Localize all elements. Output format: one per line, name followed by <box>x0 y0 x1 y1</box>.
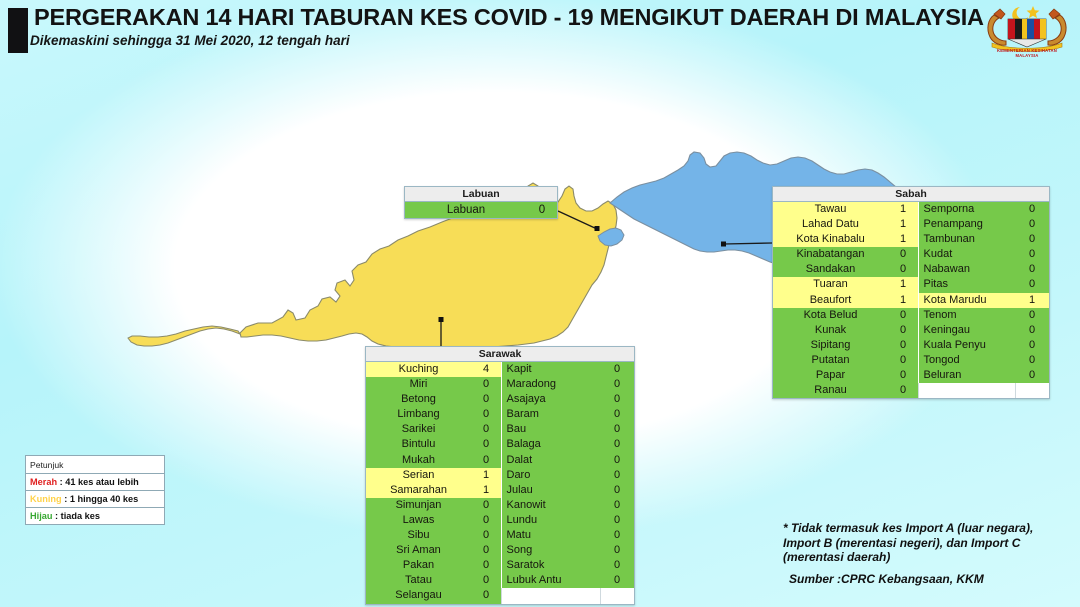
district-name: Asajaya <box>502 392 601 407</box>
footnote-line-2: Import B (merentasi negeri), dan Import … <box>783 536 1073 551</box>
sarawak-right-column: Kapit0Maradong0Asajaya0Baram0Bau0Balaga0… <box>501 362 634 604</box>
district-case-count: 0 <box>471 573 501 588</box>
table-row: Kanowit0 <box>502 498 635 513</box>
district-case-count: 0 <box>1015 338 1049 353</box>
district-name: Bau <box>502 422 601 437</box>
district-case-count: 0 <box>1015 262 1049 277</box>
sabah-left-body: Tawau1Lahad Datu1Kota Kinabalu1Kinabatan… <box>773 202 918 398</box>
district-name: Tambunan <box>919 232 1016 247</box>
labuan-table: Labuan0 <box>405 202 557 218</box>
district-name: Balaga <box>502 437 601 452</box>
district-name: Papar <box>773 368 888 383</box>
legend-text-merah: : 41 kes atau lebih <box>60 477 139 487</box>
district-case-count: 0 <box>1015 217 1049 232</box>
district-name: Lundu <box>502 513 601 528</box>
district-name: Beaufort <box>773 293 888 308</box>
sabah-table-card: Sabah Tawau1Lahad Datu1Kota Kinabalu1Kin… <box>772 186 1050 399</box>
district-name: Bintulu <box>366 437 471 452</box>
district-case-count <box>600 588 634 603</box>
district-case-count: 0 <box>1015 232 1049 247</box>
table-row: Serian1 <box>366 468 501 483</box>
table-row: Miri0 <box>366 377 501 392</box>
table-row: Sandakan0 <box>773 262 918 277</box>
district-case-count: 0 <box>888 383 918 398</box>
district-name: Kanowit <box>502 498 601 513</box>
district-case-count: 0 <box>888 323 918 338</box>
table-row: Saratok0 <box>502 558 635 573</box>
table-row: Sibu0 <box>366 528 501 543</box>
sarawak-right-body: Kapit0Maradong0Asajaya0Baram0Bau0Balaga0… <box>502 362 635 604</box>
legend-item-merah: Merah : 41 kes atau lebih <box>26 473 164 490</box>
sarawak-tail <box>128 326 240 346</box>
legend-heading: Petunjuk <box>26 456 164 473</box>
table-row: Julau0 <box>502 483 635 498</box>
table-row: Tawau1 <box>773 202 918 217</box>
district-name: Tongod <box>919 353 1016 368</box>
district-name: Maradong <box>502 377 601 392</box>
district-case-count: 0 <box>1015 323 1049 338</box>
district-name: Kota Kinabalu <box>773 232 888 247</box>
table-row: Lahad Datu1 <box>773 217 918 232</box>
district-name: Pitas <box>919 277 1016 292</box>
table-row: Kota Marudu1 <box>919 293 1050 308</box>
table-row: Kapit0 <box>502 362 635 377</box>
district-name: Tenom <box>919 308 1016 323</box>
district-name: Kunak <box>773 323 888 338</box>
district-case-count: 0 <box>600 573 634 588</box>
table-row: Samarahan1 <box>366 483 501 498</box>
district-case-count: 0 <box>1015 353 1049 368</box>
district-case-count: 0 <box>471 498 501 513</box>
district-name: Simunjan <box>366 498 471 513</box>
table-row: Matu0 <box>502 528 635 543</box>
table-row: Tuaran1 <box>773 277 918 292</box>
table-row: Tatau0 <box>366 573 501 588</box>
district-name: Tatau <box>366 573 471 588</box>
district-name: Labuan <box>405 202 527 218</box>
district-name: Tuaran <box>773 277 888 292</box>
district-case-count: 0 <box>471 407 501 422</box>
district-name: Sri Aman <box>366 543 471 558</box>
district-case-count: 1 <box>1015 293 1049 308</box>
district-case-count: 4 <box>471 362 501 377</box>
district-name: Kinabatangan <box>773 247 888 262</box>
district-name: Kuala Penyu <box>919 338 1016 353</box>
district-case-count: 0 <box>600 528 634 543</box>
table-row: Kuching4 <box>366 362 501 377</box>
sarawak-table-title: Sarawak <box>366 347 634 362</box>
district-case-count: 0 <box>600 513 634 528</box>
district-case-count: 0 <box>471 543 501 558</box>
district-case-count: 0 <box>600 377 634 392</box>
table-row: Song0 <box>502 543 635 558</box>
district-case-count: 0 <box>471 377 501 392</box>
table-row: Lawas0 <box>366 513 501 528</box>
district-case-count: 0 <box>471 513 501 528</box>
labuan-table-title: Labuan <box>405 187 557 202</box>
table-row: Bintulu0 <box>366 437 501 452</box>
legend-text-kuning: : 1 hingga 40 kes <box>64 494 138 504</box>
district-case-count: 0 <box>600 483 634 498</box>
district-name: Baram <box>502 407 601 422</box>
district-name: Lubuk Antu <box>502 573 601 588</box>
district-name: Kota Belud <box>773 308 888 323</box>
table-row: Kunak0 <box>773 323 918 338</box>
district-case-count: 0 <box>888 308 918 323</box>
table-row: Asajaya0 <box>502 392 635 407</box>
table-row: Tambunan0 <box>919 232 1050 247</box>
district-case-count: 0 <box>600 362 634 377</box>
table-row: Kinabatangan0 <box>773 247 918 262</box>
sarawak-table-card: Sarawak Kuching4Miri0Betong0Limbang0Sari… <box>365 346 635 605</box>
district-case-count: 0 <box>1015 308 1049 323</box>
footnote-line-1: * Tidak termasuk kes Import A (luar nega… <box>783 521 1073 536</box>
district-name: Samarahan <box>366 483 471 498</box>
table-row: Kuala Penyu0 <box>919 338 1050 353</box>
district-case-count: 0 <box>888 338 918 353</box>
table-row: Maradong0 <box>502 377 635 392</box>
district-name <box>919 383 1016 398</box>
district-name: Tawau <box>773 202 888 217</box>
table-row: Labuan0 <box>405 202 557 218</box>
table-row: Betong0 <box>366 392 501 407</box>
table-row: Penampang0 <box>919 217 1050 232</box>
district-name: Nabawan <box>919 262 1016 277</box>
district-name: Sibu <box>366 528 471 543</box>
district-name: Sarikei <box>366 422 471 437</box>
district-case-count: 0 <box>1015 277 1049 292</box>
district-name: Betong <box>366 392 471 407</box>
district-name: Mukah <box>366 453 471 468</box>
table-row: Beluran0 <box>919 368 1050 383</box>
sarawak-connector-dot <box>439 317 444 322</box>
district-case-count: 0 <box>600 558 634 573</box>
district-name: Kota Marudu <box>919 293 1016 308</box>
district-case-count: 1 <box>888 217 918 232</box>
district-name: Ranau <box>773 383 888 398</box>
district-name: Sipitang <box>773 338 888 353</box>
table-row: Sri Aman0 <box>366 543 501 558</box>
table-row: Sipitang0 <box>773 338 918 353</box>
district-case-count: 0 <box>600 422 634 437</box>
district-case-count: 0 <box>1015 368 1049 383</box>
district-name: Selangau <box>366 588 471 603</box>
table-row: Kota Belud0 <box>773 308 918 323</box>
district-name: Pakan <box>366 558 471 573</box>
legend-item-kuning: Kuning : 1 hingga 40 kes <box>26 490 164 507</box>
page-title: PERGERAKAN 14 HARI TABURAN KES COVID - 1… <box>34 4 984 31</box>
table-row: Mukah0 <box>366 453 501 468</box>
page-header: PERGERAKAN 14 HARI TABURAN KES COVID - 1… <box>0 0 1080 62</box>
page-subtitle: Dikemaskini sehingga 31 Mei 2020, 12 ten… <box>30 33 350 48</box>
district-name: Sandakan <box>773 262 888 277</box>
district-case-count: 1 <box>888 277 918 292</box>
table-row: Baram0 <box>502 407 635 422</box>
district-case-count: 1 <box>471 468 501 483</box>
district-case-count: 0 <box>888 368 918 383</box>
legend-swatch-merah: Merah <box>30 477 57 487</box>
district-case-count: 0 <box>600 543 634 558</box>
district-case-count: 0 <box>1015 247 1049 262</box>
header-accent-bar <box>8 8 28 53</box>
labuan-table-body: Labuan0 <box>405 202 557 218</box>
district-name: Kapit <box>502 362 601 377</box>
legend-text-hijau: : tiada kes <box>55 511 100 521</box>
district-case-count: 0 <box>600 498 634 513</box>
district-name: Daro <box>502 468 601 483</box>
table-row <box>502 588 635 603</box>
table-row: Semporna0 <box>919 202 1050 217</box>
district-name: Semporna <box>919 202 1016 217</box>
table-row: Ranau0 <box>773 383 918 398</box>
district-name: Kudat <box>919 247 1016 262</box>
legend-panel: Petunjuk Merah : 41 kes atau lebih Kunin… <box>25 455 165 525</box>
sabah-table-title: Sabah <box>773 187 1049 202</box>
table-row: Limbang0 <box>366 407 501 422</box>
district-case-count: 0 <box>471 422 501 437</box>
district-case-count: 1 <box>888 232 918 247</box>
district-case-count: 0 <box>527 202 557 218</box>
legend-swatch-hijau: Hijau <box>30 511 52 521</box>
sarawak-left-body: Kuching4Miri0Betong0Limbang0Sarikei0Bint… <box>366 362 501 604</box>
district-name: Serian <box>366 468 471 483</box>
sabah-table-columns: Tawau1Lahad Datu1Kota Kinabalu1Kinabatan… <box>773 202 1049 398</box>
district-case-count <box>1015 383 1049 398</box>
source-text: Sumber :CPRC Kebangsaan, KKM <box>789 572 1079 586</box>
table-row: Putatan0 <box>773 353 918 368</box>
table-row: Kota Kinabalu1 <box>773 232 918 247</box>
district-name: Kuching <box>366 362 471 377</box>
district-case-count: 1 <box>888 202 918 217</box>
district-name: Putatan <box>773 353 888 368</box>
kkm-crest-logo: KEMENTERIAN KESIHATAN MALAYSIA <box>980 1 1074 59</box>
district-case-count: 0 <box>888 353 918 368</box>
district-case-count: 0 <box>471 437 501 452</box>
sabah-right-body: Semporna0Penampang0Tambunan0Kudat0Nabawa… <box>919 202 1050 398</box>
table-row: Papar0 <box>773 368 918 383</box>
district-name: Dalat <box>502 453 601 468</box>
labuan-connector-dot <box>595 226 600 231</box>
sabah-left-column: Tawau1Lahad Datu1Kota Kinabalu1Kinabatan… <box>773 202 918 398</box>
table-row: Tenom0 <box>919 308 1050 323</box>
district-name: Matu <box>502 528 601 543</box>
district-case-count: 1 <box>888 293 918 308</box>
district-case-count: 0 <box>471 453 501 468</box>
crest-caption: KEMENTERIAN KESIHATAN MALAYSIA <box>980 48 1074 59</box>
table-row: Kudat0 <box>919 247 1050 262</box>
district-name: Lawas <box>366 513 471 528</box>
district-name: Miri <box>366 377 471 392</box>
table-row: Daro0 <box>502 468 635 483</box>
district-name: Julau <box>502 483 601 498</box>
district-case-count: 0 <box>471 588 501 603</box>
district-case-count: 0 <box>600 453 634 468</box>
footnote-text: * Tidak termasuk kes Import A (luar nega… <box>783 521 1073 565</box>
table-row: Lundu0 <box>502 513 635 528</box>
table-row: Dalat0 <box>502 453 635 468</box>
district-case-count: 0 <box>600 468 634 483</box>
legend-item-hijau: Hijau : tiada kes <box>26 507 164 524</box>
table-row: Simunjan0 <box>366 498 501 513</box>
district-name: Penampang <box>919 217 1016 232</box>
sarawak-left-column: Kuching4Miri0Betong0Limbang0Sarikei0Bint… <box>366 362 501 604</box>
district-case-count: 1 <box>471 483 501 498</box>
table-row: Beaufort1 <box>773 293 918 308</box>
district-case-count: 0 <box>600 392 634 407</box>
district-name: Song <box>502 543 601 558</box>
table-row <box>919 383 1050 398</box>
table-row: Selangau0 <box>366 588 501 603</box>
sarawak-table-columns: Kuching4Miri0Betong0Limbang0Sarikei0Bint… <box>366 362 634 604</box>
table-row: Balaga0 <box>502 437 635 452</box>
district-name: Saratok <box>502 558 601 573</box>
table-row: Bau0 <box>502 422 635 437</box>
district-name: Lahad Datu <box>773 217 888 232</box>
sabah-right-column: Semporna0Penampang0Tambunan0Kudat0Nabawa… <box>918 202 1049 398</box>
district-case-count: 0 <box>600 407 634 422</box>
sabah-connector-dot <box>721 242 726 247</box>
table-row: Pitas0 <box>919 277 1050 292</box>
table-row: Pakan0 <box>366 558 501 573</box>
table-row: Nabawan0 <box>919 262 1050 277</box>
district-name <box>502 588 601 603</box>
district-case-count: 0 <box>888 247 918 262</box>
district-case-count: 0 <box>471 528 501 543</box>
district-case-count: 0 <box>471 392 501 407</box>
table-row: Lubuk Antu0 <box>502 573 635 588</box>
labuan-table-card: Labuan Labuan0 <box>404 186 558 219</box>
district-case-count: 0 <box>600 437 634 452</box>
district-name: Keningau <box>919 323 1016 338</box>
table-row: Sarikei0 <box>366 422 501 437</box>
table-row: Keningau0 <box>919 323 1050 338</box>
legend-swatch-kuning: Kuning <box>30 494 62 504</box>
district-case-count: 0 <box>888 262 918 277</box>
table-row: Tongod0 <box>919 353 1050 368</box>
district-case-count: 0 <box>1015 202 1049 217</box>
district-case-count: 0 <box>471 558 501 573</box>
footnote-line-3: (merentasi daerah) <box>783 550 1073 565</box>
district-name: Beluran <box>919 368 1016 383</box>
district-name: Limbang <box>366 407 471 422</box>
